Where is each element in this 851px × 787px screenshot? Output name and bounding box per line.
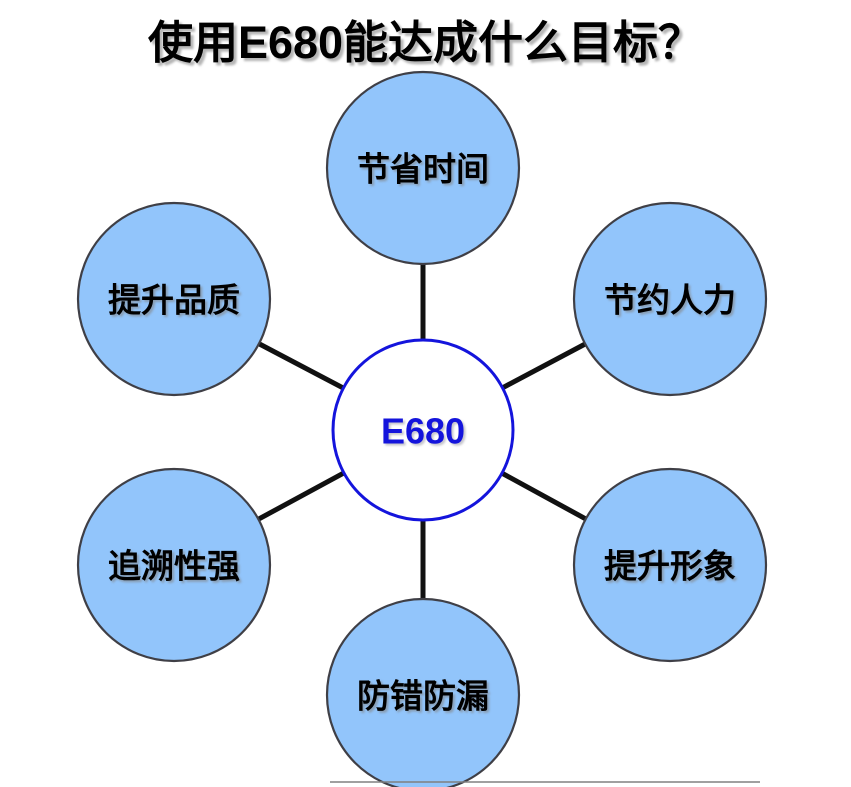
satellite-label-strong-traceability: 追溯性强 [108, 548, 240, 585]
satellite-node-improve-quality[interactable]: 提升品质 [78, 203, 270, 395]
hub-and-spoke-diagram: 节省时间节约人力提升形象防错防漏追溯性强提升品质 E680 [0, 0, 851, 787]
slide-canvas: 使用E680能达成什么目标？ 节省时间节约人力提升形象防错防漏追溯性强提升品质 … [0, 0, 851, 787]
connector-line-improve-quality [258, 343, 344, 388]
satellite-label-save-labor: 节约人力 [604, 282, 736, 319]
satellite-node-improve-image[interactable]: 提升形象 [574, 469, 766, 661]
satellite-node-strong-traceability[interactable]: 追溯性强 [78, 469, 270, 661]
connector-line-save-labor [502, 344, 586, 389]
connector-line-strong-traceability [258, 472, 345, 519]
satellite-node-save-labor[interactable]: 节约人力 [574, 203, 766, 395]
satellite-label-save-time: 节省时间 [357, 151, 489, 188]
satellite-label-prevent-errors: 防错防漏 [357, 678, 489, 715]
satellite-label-improve-quality: 提升品质 [108, 282, 240, 319]
satellite-label-improve-image: 提升形象 [604, 548, 736, 585]
satellite-node-prevent-errors[interactable]: 防错防漏 [327, 599, 519, 787]
hub-label: E680 [381, 411, 465, 452]
connector-line-improve-image [501, 473, 587, 520]
satellite-node-save-time[interactable]: 节省时间 [327, 72, 519, 264]
hub-node-group: E680 [333, 340, 513, 520]
hub-node-e680[interactable]: E680 [333, 340, 513, 520]
